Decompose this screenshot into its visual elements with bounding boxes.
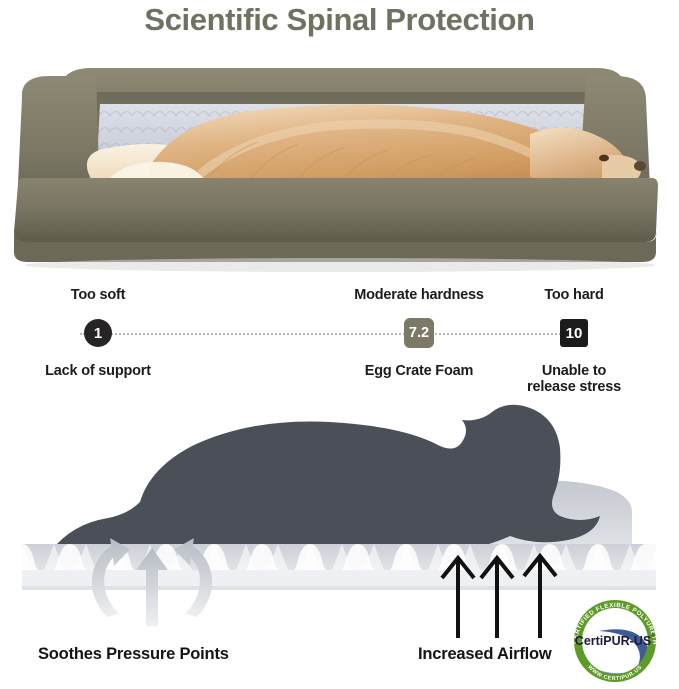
scale-node-10-label-line2: release stress (474, 379, 674, 395)
logo-brand-text: CertiPUR-US (575, 634, 651, 648)
dog-eye (599, 155, 609, 162)
scale-node-1-badge: 1 (84, 319, 112, 347)
scale-node-1-label-bottom: Lack of support (0, 363, 198, 379)
dog-nose (634, 161, 646, 171)
bed-front-quilting (14, 206, 658, 242)
scale-node-10-label-top: Too hard (474, 287, 674, 303)
scale-node-10-badge: 10 (560, 319, 588, 347)
product-infographic: Scientific Spinal Protection (0, 0, 679, 689)
airflow-arrow-2 (481, 558, 513, 638)
scale-node-10-label-line1: Unable to (474, 363, 674, 379)
scale-dotted-line (80, 333, 580, 335)
bed-ground-shadow (24, 258, 656, 272)
scale-node-72-badge: 7.2 (404, 318, 434, 348)
airflow-arrows (442, 556, 556, 638)
certipur-us-logo: CONTAINS CERTIFIED FLEXIBLE POLYURETHANE… (563, 597, 667, 685)
dog-bed-photo-illustration (0, 56, 679, 276)
foam-bottom-edge (22, 586, 656, 590)
hero-product-photo (0, 56, 679, 276)
caption-soothes-pressure-points: Soothes Pressure Points (38, 645, 229, 664)
logo-registered-mark: ® (651, 632, 655, 639)
scale-node-10-label-bottom: Unable to release stress (474, 363, 674, 395)
scale-node-1-label-top: Too soft (0, 287, 198, 303)
page-title: Scientific Spinal Protection (0, 2, 679, 38)
airflow-arrow-1 (442, 558, 474, 638)
hardness-scale: Too soft 1 Lack of support Moderate hard… (0, 288, 679, 393)
caption-increased-airflow: Increased Airflow (418, 645, 552, 664)
dog-silhouette (52, 405, 600, 561)
airflow-arrow-3 (524, 556, 556, 638)
